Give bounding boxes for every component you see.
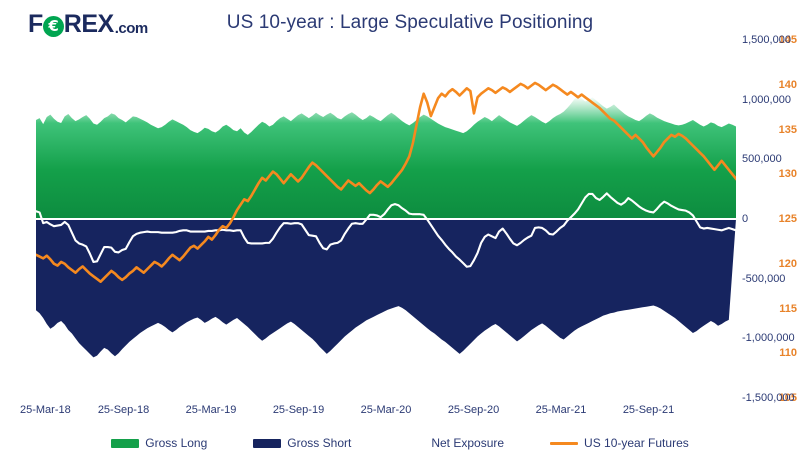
page-title: US 10-year : Large Speculative Positioni… [0, 12, 800, 34]
series-gross-short [36, 219, 736, 357]
y-axis-right-tick: 0 [742, 213, 748, 225]
y-axis-right-tick: 1,000,000 [742, 94, 791, 106]
y-axis-left-tick: 115 [779, 303, 797, 315]
y-axis-left-tick: 130 [779, 168, 797, 180]
legend-label: Gross Long [145, 436, 207, 450]
legend-label: Net Exposure [431, 436, 504, 450]
x-axis-tick: 25-Mar-18 [20, 404, 71, 416]
x-axis-tick: 25-Mar-20 [361, 404, 412, 416]
y-axis-left-tick: 135 [779, 124, 797, 136]
legend-swatch-gross-long [111, 439, 139, 448]
y-axis-right-tick: -1,500,000 [742, 392, 795, 404]
chart-legend: Gross LongGross ShortNet ExposureUS 10-y… [0, 436, 800, 450]
y-axis-left-tick: 125 [779, 213, 797, 225]
x-axis-tick: 25-Sep-19 [273, 404, 324, 416]
legend-item[interactable]: Net Exposure [397, 436, 504, 450]
chart-page: F€REX.com US 10-year : Large Speculative… [0, 0, 800, 458]
x-axis-tick: 25-Mar-19 [186, 404, 237, 416]
chart-canvas [36, 40, 736, 398]
y-axis-left-tick: 120 [779, 258, 797, 270]
legend-item[interactable]: Gross Short [253, 436, 351, 450]
legend-item[interactable]: Gross Long [111, 436, 207, 450]
x-axis-tick: 25-Sep-21 [623, 404, 674, 416]
y-axis-right-tick: 1,500,000 [742, 34, 791, 46]
x-axis-tick: 25-Sep-18 [98, 404, 149, 416]
chart-plot-area [36, 40, 736, 398]
y-axis-left-tick: 110 [779, 347, 797, 359]
legend-label: Gross Short [287, 436, 351, 450]
y-axis-right-tick: 500,000 [742, 153, 782, 165]
y-axis-left-tick: 140 [779, 79, 797, 91]
legend-swatch-gross-short [253, 439, 281, 448]
y-axis-right-tick: -500,000 [742, 273, 785, 285]
y-axis-right-tick: -1,000,000 [742, 332, 795, 344]
legend-swatch-net-exposure [397, 442, 425, 445]
legend-swatch-us-10-year-futures [550, 442, 578, 445]
legend-label: US 10-year Futures [584, 436, 689, 450]
x-axis-tick: 25-Mar-21 [536, 404, 587, 416]
x-axis-tick: 25-Sep-20 [448, 404, 499, 416]
legend-item[interactable]: US 10-year Futures [550, 436, 689, 450]
